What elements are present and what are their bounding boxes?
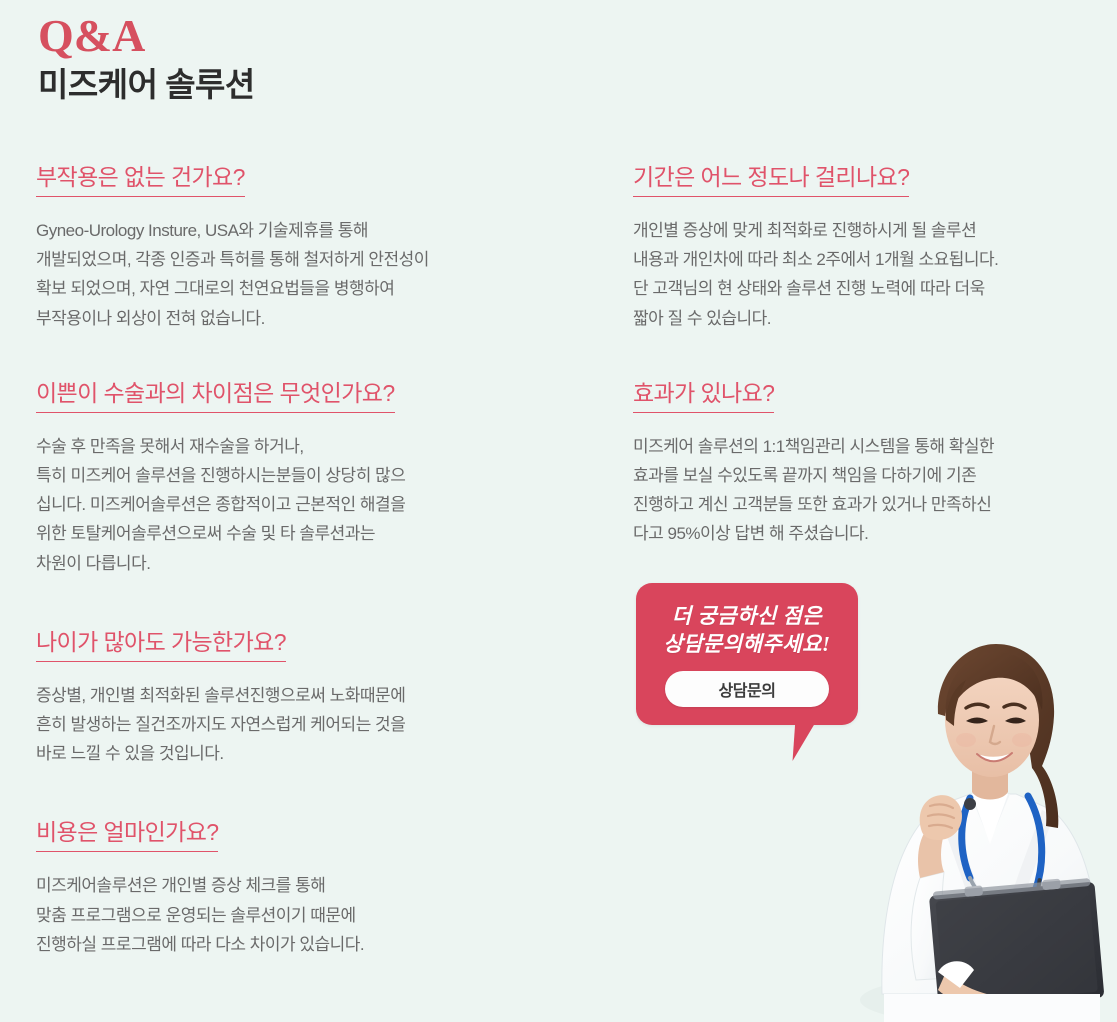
- faq-item: 비용은 얼마인가요? 미즈케어솔루션은 개인별 증상 체크를 통해 맞춤 프로그…: [36, 818, 556, 959]
- doctor-photo: [820, 628, 1117, 1022]
- faq-answer: 개인별 증상에 맞게 최적화로 진행하시게 될 솔루션 내용과 개인차에 따라 …: [633, 216, 1093, 333]
- faq-question[interactable]: 이쁜이 수술과의 차이점은 무엇인가요?: [36, 379, 395, 413]
- consult-inquiry-button[interactable]: 상담문의: [665, 671, 829, 707]
- page-title: Q&A: [38, 10, 255, 63]
- faq-answer: 미즈케어솔루션은 개인별 증상 체크를 통해 맞춤 프로그램으로 운영되는 솔루…: [36, 871, 556, 959]
- faq-question[interactable]: 효과가 있나요?: [633, 379, 774, 413]
- faq-item: 효과가 있나요? 미즈케어 솔루션의 1:1책임관리 시스템을 통해 확실한 효…: [633, 379, 1093, 549]
- faq-question[interactable]: 비용은 얼마인가요?: [36, 818, 218, 852]
- faq-right-column: 기간은 어느 정도나 걸리나요? 개인별 증상에 맞게 최적화로 진행하시게 될…: [633, 163, 1093, 589]
- speech-bubble-tail-icon: [793, 719, 818, 761]
- qa-page: Q&A 미즈케어 솔루션 부작용은 없는 건가요? Gyneo-Urology …: [0, 0, 1117, 1022]
- faq-answer: Gyneo-Urology Insture, USA와 기술제휴를 통해 개발되…: [36, 216, 556, 333]
- consult-cta: 더 궁금하신 점은 상담문의해주세요! 상담문의: [636, 583, 858, 725]
- faq-item: 기간은 어느 정도나 걸리나요? 개인별 증상에 맞게 최적화로 진행하시게 될…: [633, 163, 1093, 333]
- faq-question[interactable]: 부작용은 없는 건가요?: [36, 163, 245, 197]
- faq-answer: 증상별, 개인별 최적화된 솔루션진행으로써 노화때문에 흔히 발생하는 질건조…: [36, 681, 556, 769]
- faq-answer: 미즈케어 솔루션의 1:1책임관리 시스템을 통해 확실한 효과를 보실 수있도…: [633, 432, 1093, 549]
- faq-item: 부작용은 없는 건가요? Gyneo-Urology Insture, USA와…: [36, 163, 556, 333]
- page-header: Q&A 미즈케어 솔루션: [38, 10, 255, 106]
- speech-bubble: 더 궁금하신 점은 상담문의해주세요! 상담문의: [636, 583, 858, 725]
- faq-question[interactable]: 기간은 어느 정도나 걸리나요?: [633, 163, 909, 197]
- faq-item: 이쁜이 수술과의 차이점은 무엇인가요? 수술 후 만족을 못해서 재수술을 하…: [36, 379, 556, 578]
- faq-left-column: 부작용은 없는 건가요? Gyneo-Urology Insture, USA와…: [36, 163, 556, 999]
- faq-item: 나이가 많아도 가능한가요? 증상별, 개인별 최적화된 솔루션진행으로써 노화…: [36, 628, 556, 769]
- faq-question[interactable]: 나이가 많아도 가능한가요?: [36, 628, 286, 662]
- speech-bubble-text: 더 궁금하신 점은 상담문의해주세요!: [636, 583, 858, 658]
- page-subtitle: 미즈케어 솔루션: [38, 67, 255, 107]
- faq-answer: 수술 후 만족을 못해서 재수술을 하거나, 특히 미즈케어 솔루션을 진행하시…: [36, 432, 556, 578]
